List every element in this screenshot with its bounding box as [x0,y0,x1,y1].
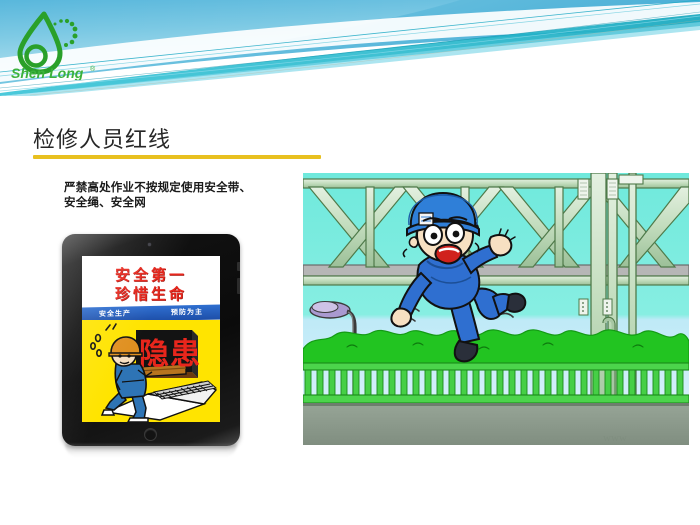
tablet-home-button[interactable] [144,428,157,441]
tablet-device: 安全第一 珍惜生命 安全生产 预防为主 [62,234,240,456]
safety-poster: 安全第一 珍惜生命 安全生产 预防为主 [82,256,220,422]
page-title: 检修人员红线 [33,122,171,154]
subtitle-line-2: 安全绳、安全网 [64,196,299,211]
logo-wordmark: Shen Long [11,65,84,80]
poster-headline-area: 安全第一 珍惜生命 [82,256,220,308]
subtitle-block: 严禁高处作业不按规定使用安全带、 安全绳、安全网 [64,181,299,211]
title-underline-rule [33,155,321,159]
illustration-watermark-text: www [603,432,627,444]
tablet-volume-button[interactable] [237,278,240,294]
poster-ribbon-left: 安全生产 [99,308,131,319]
tablet-power-button[interactable] [237,262,240,271]
poster-ribbon-right: 预防为主 [171,307,203,318]
header-banner [0,0,700,96]
shen-long-logo: Shen Long ® [6,8,102,80]
falling-worker-cartoon: www [303,173,689,463]
poster-headline-line-2: 珍惜生命 [82,283,220,304]
logo-trademark: ® [90,65,96,73]
tablet-screen: 安全第一 珍惜生命 安全生产 预防为主 [82,256,220,422]
poster-illustration: 隐患 [82,320,220,422]
tablet-reflection [65,444,237,457]
tablet-camera-icon [148,243,151,246]
presentation-slide: Shen Long ® 检修人员红线 严禁高处作业不按规定使用安全带、 安全绳、… [0,0,700,525]
subtitle-line-1: 严禁高处作业不按规定使用安全带、 [64,181,299,196]
hazard-box-label: 隐患 [139,338,201,371]
poster-headline-line-1: 安全第一 [82,264,220,285]
tablet-frame: 安全第一 珍惜生命 安全生产 预防为主 [62,234,240,446]
